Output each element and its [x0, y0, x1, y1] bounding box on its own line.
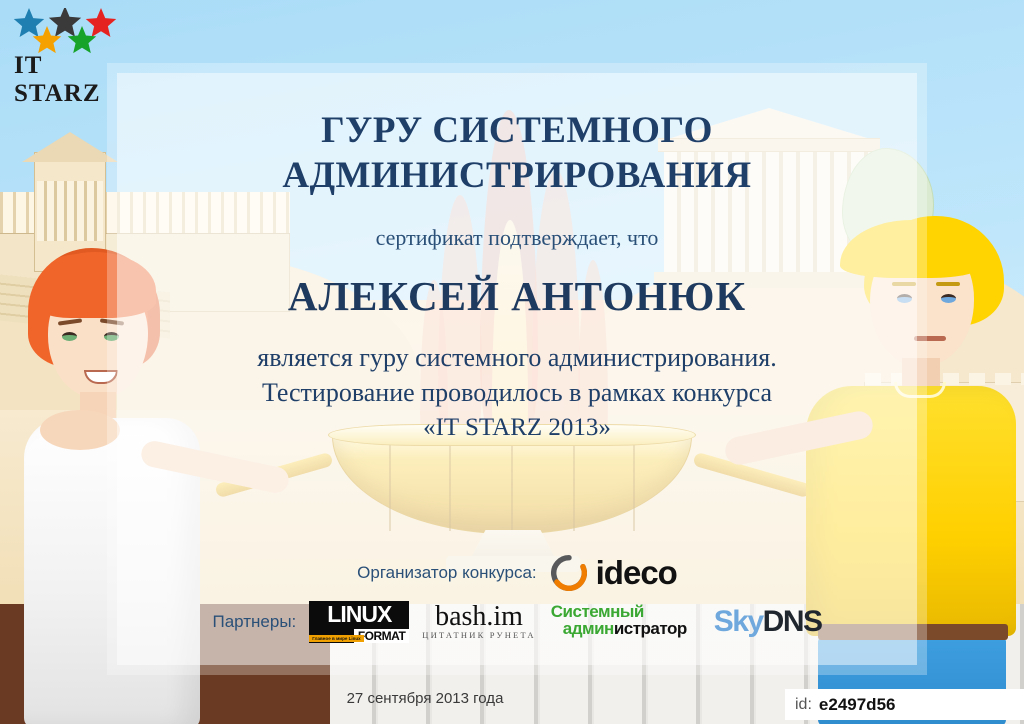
sysadmin-line-2: администратор	[563, 619, 687, 639]
five-stars-icon	[12, 8, 122, 56]
certificate-subtitle: сертификат подтверждает, что	[117, 225, 917, 251]
skydns-part-1: Sky	[714, 605, 763, 638]
issue-date: 27 сентября 2013 года	[260, 690, 590, 707]
skydns-part-2: DNS	[763, 605, 822, 638]
linux-format-top: LINUX	[309, 601, 409, 626]
certificate-body: является гуру системного администрирован…	[117, 340, 917, 445]
partner-logo-sistemny-administrator: Системный администратор	[549, 602, 701, 642]
bash-im-title: bash.im	[422, 604, 535, 630]
bash-im-subtitle: ЦИТАТНИК РУНЕТА	[422, 630, 535, 641]
organizer-label: Организатор конкурса:	[357, 563, 537, 583]
logo-wordmark: IT STARZ	[14, 52, 122, 108]
sysadmin-line-2-black: истратор	[614, 619, 687, 638]
title-line-2: АДМИНИСТРИРОВАНИЯ	[117, 153, 917, 198]
linux-format-tagline: Главное в мире Linux	[309, 635, 363, 642]
certificate-id-label: id:	[795, 696, 812, 714]
title-line-1: ГУРУ СИСТЕМНОГО	[117, 108, 917, 153]
body-line-1: является гуру системного администрирован…	[117, 340, 917, 375]
partner-logo-skydns: SkyDNS	[714, 605, 822, 639]
page-title: ГУРУ СИСТЕМНОГО АДМИНИСТРИРОВАНИЯ	[117, 108, 917, 198]
recipient-name: АЛЕКСЕЙ АНТОНЮК	[117, 272, 917, 320]
partner-logo-bash-im: bash.im ЦИТАТНИК РУНЕТА	[422, 604, 535, 641]
star-dark-icon	[49, 8, 81, 37]
certificate-id-value: e2497d56	[819, 695, 896, 715]
contest-name: «IT STARZ 2013»	[117, 410, 917, 445]
partners-label: Партнеры:	[213, 612, 297, 632]
ideco-logo: ideco	[551, 554, 677, 592]
certificate-canvas: IT STARZ ГУРУ СИСТЕМНОГО АДМИНИСТРИРОВАН…	[0, 0, 1024, 724]
ideco-ring-icon	[551, 555, 587, 591]
star-blue-icon	[14, 8, 44, 37]
sysadmin-line-2-green: админ	[563, 619, 614, 638]
certificate-id-box: id: e2497d56	[785, 689, 1024, 720]
partners-row: Партнеры: LINUX FORMAT Главное в мире Li…	[117, 601, 917, 643]
star-red-icon	[86, 8, 116, 37]
organizer-row: Организатор конкурса: ideco	[117, 554, 917, 592]
certificate-content: ГУРУ СИСТЕМНОГО АДМИНИСТРИРОВАНИЯ сертиф…	[117, 73, 917, 665]
partner-logo-linux-format: LINUX FORMAT Главное в мире Linux	[309, 601, 409, 643]
body-line-2: Тестирование проводилось в рамках конкур…	[117, 375, 917, 410]
ideco-wordmark: ideco	[596, 554, 677, 592]
it-starz-logo: IT STARZ	[12, 8, 122, 86]
